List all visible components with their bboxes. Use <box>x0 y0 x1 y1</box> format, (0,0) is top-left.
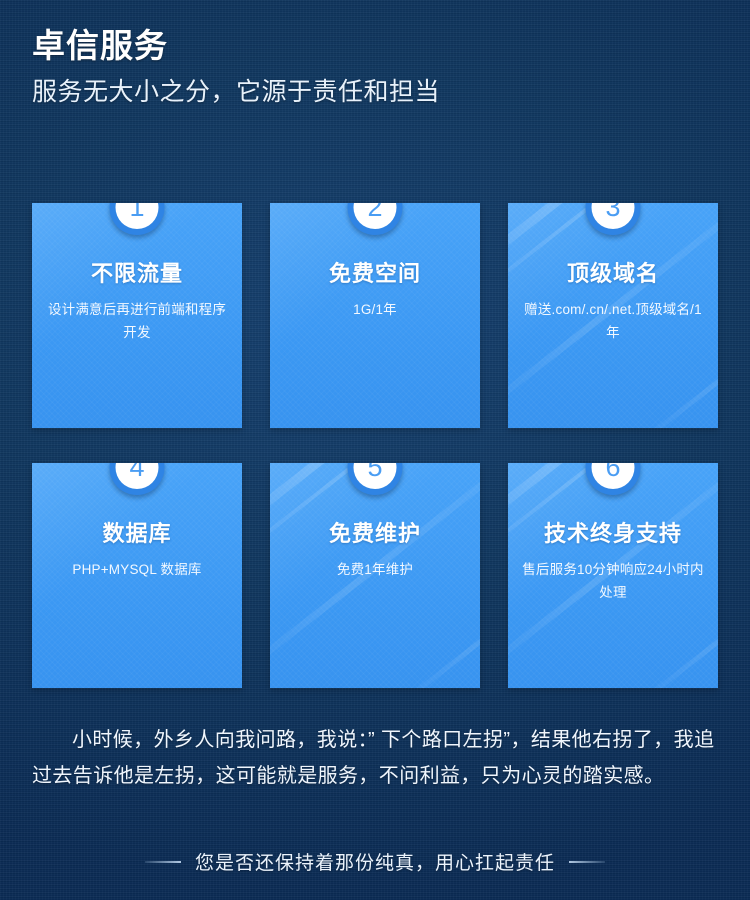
feature-card-1[interactable]: 1 不限流量 设计满意后再进行前端和程序开发 <box>32 203 242 428</box>
step-number-badge: 5 <box>348 463 403 495</box>
badge-inner-circle: 3 <box>592 203 635 229</box>
feature-card-5[interactable]: 5 免费维护 免费1年维护 <box>270 463 480 688</box>
feature-card-description: 1G/1年 <box>280 298 470 321</box>
feature-card-description: PHP+MYSQL 数据库 <box>42 558 232 581</box>
feature-card-grid: 1 不限流量 设计满意后再进行前端和程序开发 2 免费空间 1G/1年 <box>32 203 718 688</box>
badge-number: 6 <box>605 463 620 481</box>
service-promo-page: 卓信服务 服务无大小之分，它源于责任和担当 1 不限流量 设计满意后再进行前端和… <box>0 0 750 900</box>
badge-inner-circle: 6 <box>592 463 635 489</box>
badge-inner-circle: 5 <box>354 463 397 489</box>
badge-number: 3 <box>605 203 620 221</box>
feature-card-3[interactable]: 3 顶级域名 赠送.com/.cn/.net.顶级域名/1年 <box>508 203 718 428</box>
feature-card-body: 技术终身支持 售后服务10分钟响应24小时内处理 <box>508 519 718 604</box>
feature-card-body: 免费维护 免费1年维护 <box>270 519 480 581</box>
page-title: 卓信服务 <box>32 24 722 68</box>
feature-card-title: 免费空间 <box>280 259 470 289</box>
divider-line-left <box>145 861 181 863</box>
footer-tagline: 您是否还保持着那份纯真，用心扛起责任 <box>0 848 750 875</box>
feature-card-description: 赠送.com/.cn/.net.顶级域名/1年 <box>518 298 708 344</box>
feature-card-description: 设计满意后再进行前端和程序开发 <box>42 298 232 344</box>
badge-number: 5 <box>367 463 382 481</box>
badge-inner-circle: 2 <box>354 203 397 229</box>
badge-number: 2 <box>367 203 382 221</box>
step-number-badge: 1 <box>110 203 165 235</box>
feature-card-4[interactable]: 4 数据库 PHP+MYSQL 数据库 <box>32 463 242 688</box>
step-number-badge: 2 <box>348 203 403 235</box>
feature-card-2[interactable]: 2 免费空间 1G/1年 <box>270 203 480 428</box>
footer-tagline-text: 您是否还保持着那份纯真，用心扛起责任 <box>195 848 555 875</box>
page-subtitle: 服务无大小之分，它源于责任和担当 <box>32 72 722 112</box>
badge-number: 1 <box>129 203 144 221</box>
page-header: 卓信服务 服务无大小之分，它源于责任和担当 <box>32 24 722 112</box>
feature-card-title: 不限流量 <box>42 259 232 289</box>
step-number-badge: 4 <box>110 463 165 495</box>
feature-card-body: 顶级域名 赠送.com/.cn/.net.顶级域名/1年 <box>508 259 718 344</box>
feature-card-title: 技术终身支持 <box>518 519 708 549</box>
feature-card-6[interactable]: 6 技术终身支持 售后服务10分钟响应24小时内处理 <box>508 463 718 688</box>
feature-card-title: 免费维护 <box>280 519 470 549</box>
divider-line-right <box>569 861 605 863</box>
feature-card-title: 数据库 <box>42 519 232 549</box>
feature-card-description: 免费1年维护 <box>280 558 470 581</box>
step-number-badge: 3 <box>586 203 641 235</box>
feature-card-body: 免费空间 1G/1年 <box>270 259 480 321</box>
feature-card-description: 售后服务10分钟响应24小时内处理 <box>518 558 708 604</box>
footer-quote: 小时候，外乡人向我问路，我说：” 下个路口左拐”，结果他右拐了，我追过去告诉他是… <box>32 722 720 794</box>
badge-number: 4 <box>129 463 144 481</box>
badge-inner-circle: 4 <box>116 463 159 489</box>
step-number-badge: 6 <box>586 463 641 495</box>
feature-card-body: 数据库 PHP+MYSQL 数据库 <box>32 519 242 581</box>
feature-card-title: 顶级域名 <box>518 259 708 289</box>
badge-inner-circle: 1 <box>116 203 159 229</box>
feature-card-body: 不限流量 设计满意后再进行前端和程序开发 <box>32 259 242 344</box>
